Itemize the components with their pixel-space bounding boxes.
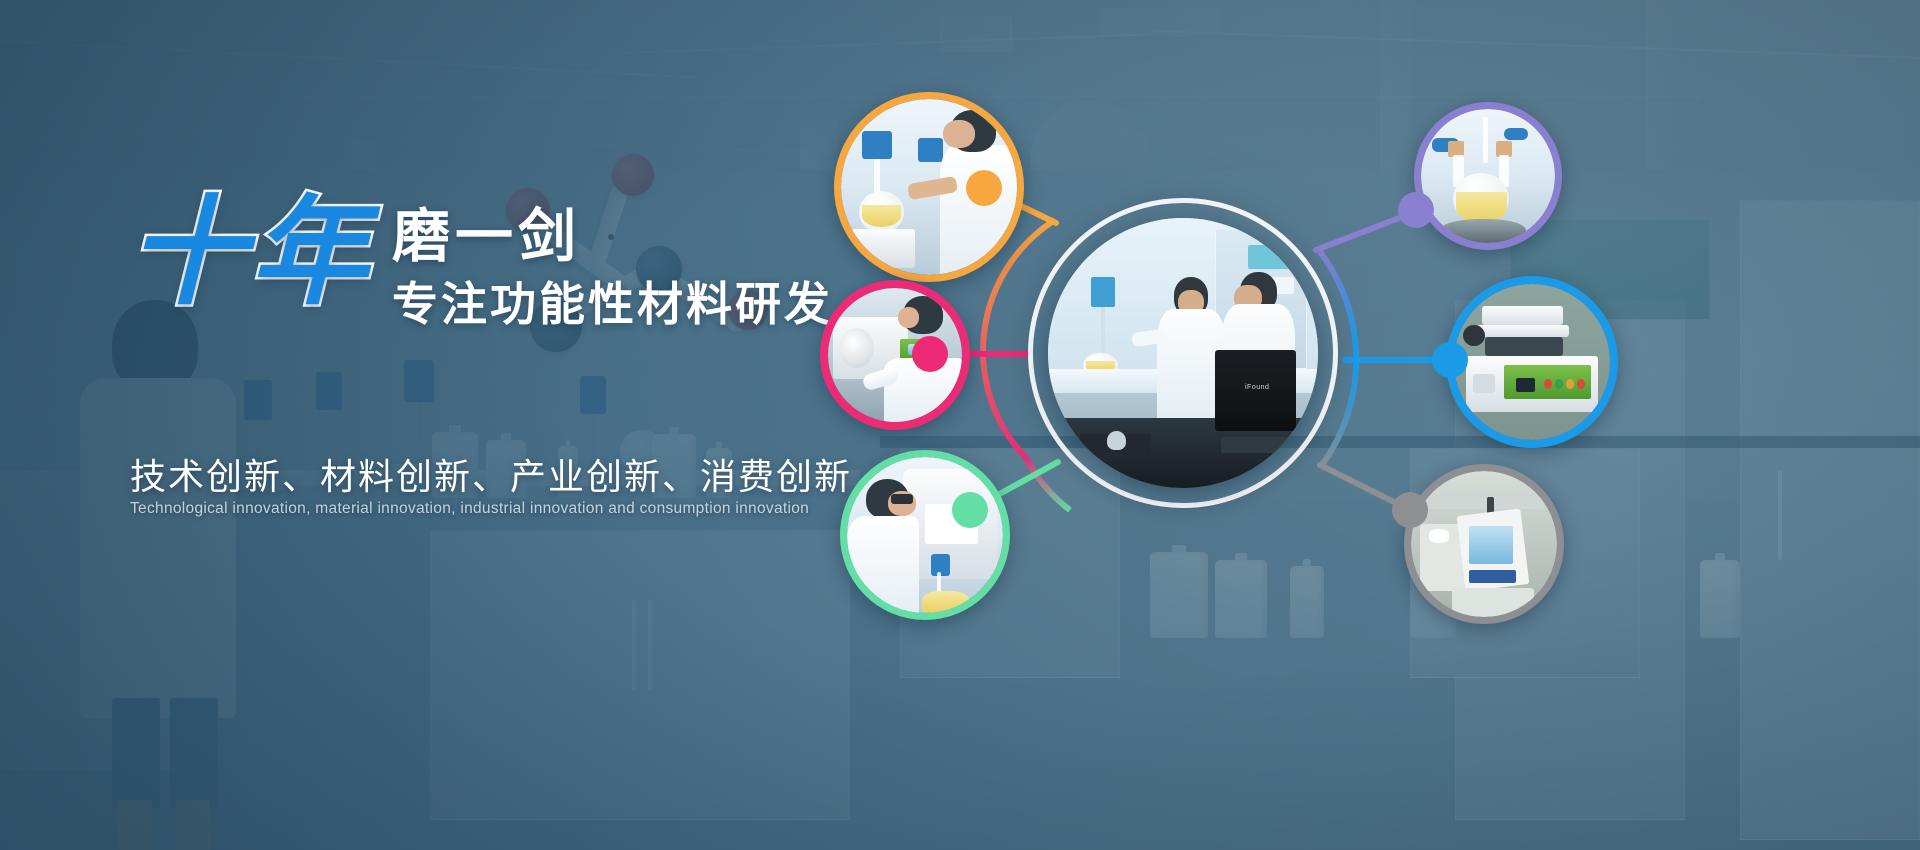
- subtitle-english: Technological innovation, material innov…: [130, 500, 809, 518]
- subtitle-chinese: 技术创新、材料创新、产业创新、消费创新: [130, 448, 852, 500]
- node-dot-purple[interactable]: [1398, 192, 1434, 228]
- node-dot-blue[interactable]: [1432, 342, 1468, 378]
- node-dot-gray[interactable]: [1392, 492, 1428, 528]
- headline-line-1: 磨一剑: [392, 204, 833, 269]
- node-dot-pink[interactable]: [912, 336, 948, 372]
- circle-infographic-cluster: iFound Two researchers discussing result…: [800, 80, 1920, 680]
- bubble-green[interactable]: Technician preparing samples inside a fu…: [840, 450, 1010, 620]
- monitor-brand-text: iFound: [1245, 384, 1269, 391]
- brush-calligraphy-word: 十年: [128, 192, 372, 312]
- bubble-blue[interactable]: Abrasion and rub resistance testing inst…: [1446, 276, 1618, 448]
- node-dot-orange[interactable]: [966, 170, 1002, 206]
- bubble-gray[interactable]: Analytical testing equipment with blue d…: [1404, 464, 1564, 624]
- main-lab-photo: iFound Two researchers discussing result…: [1048, 218, 1318, 488]
- hero-banner: 十年 磨一剑 专注功能性材料研发 技术创新、材料创新、产业创新、消费创新 Tec…: [0, 0, 1920, 850]
- headline-line-2: 专注功能性材料研发: [392, 275, 833, 335]
- headline-block: 十年 磨一剑 专注功能性材料研发: [128, 186, 888, 335]
- bubble-purple[interactable]: Three-neck round-bottom flask with yello…: [1414, 102, 1562, 250]
- node-dot-green[interactable]: [952, 492, 988, 528]
